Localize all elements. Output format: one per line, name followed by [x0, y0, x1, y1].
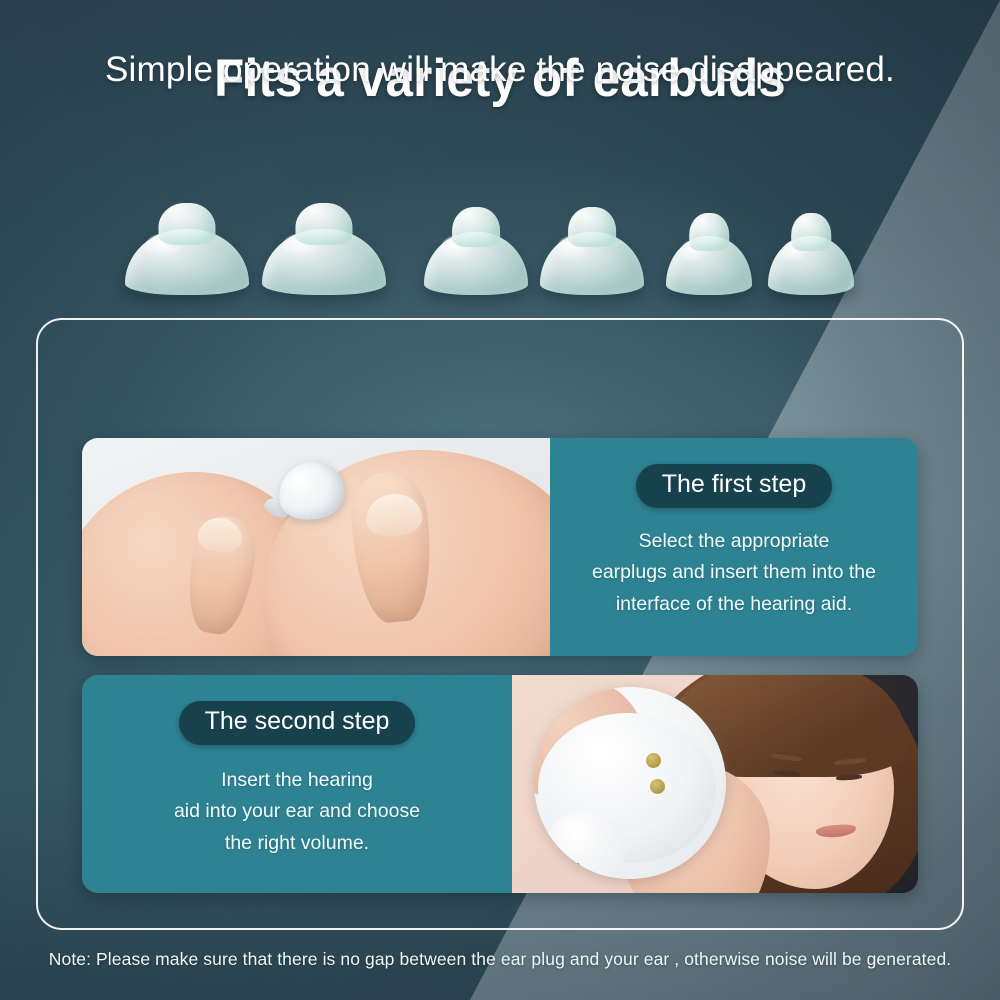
step-badge-first: The first step	[636, 464, 833, 508]
earbud-tip	[666, 213, 752, 295]
poster-root: Fits a variety of earbuds Simple oper	[0, 0, 1000, 1000]
earbud-tips-row	[0, 185, 1000, 295]
step-description-second: Insert the hearing aid into your ear and…	[174, 765, 420, 860]
earbud-tip	[125, 203, 249, 295]
step-line: aid into your ear and choose	[174, 796, 420, 828]
earbud-tip-stem	[295, 203, 352, 245]
step-description-first: Select the appropriate earplugs and inse…	[592, 526, 876, 621]
step-photo-hands	[82, 438, 550, 656]
closeup-contact-dot	[646, 753, 661, 768]
step-line: interface of the hearing aid.	[592, 589, 876, 621]
step-text-first: The first step Select the appropriate ea…	[550, 438, 918, 656]
earbud-tip-stem	[452, 207, 500, 247]
step-line: earplugs and insert them into the	[592, 557, 876, 589]
step-photo-woman	[512, 675, 918, 893]
step-text-second: The second step Insert the hearing aid i…	[82, 675, 512, 893]
earbud-tip-stem	[568, 207, 616, 247]
earbud-tip	[262, 203, 386, 295]
step-line: Insert the hearing	[174, 765, 420, 797]
footer-note: Note: Please make sure that there is no …	[0, 949, 1000, 970]
step-badge-second: The second step	[179, 701, 416, 745]
step-line: the right volume.	[174, 828, 420, 860]
closeup-device-lid	[544, 811, 626, 879]
hearing-aid-closeup-inset	[534, 687, 726, 879]
earbud-tip-stem	[791, 213, 831, 251]
closeup-mic-hole	[574, 863, 580, 869]
earbud-tip	[540, 207, 644, 295]
earbud-tip	[424, 207, 528, 295]
earbud-tip	[768, 213, 854, 295]
step-row-first: The first step Select the appropriate ea…	[82, 438, 918, 656]
closeup-contact-dot	[650, 779, 665, 794]
photo-hands-holding-hearing-aid	[82, 438, 550, 656]
earbud-tip-stem	[158, 203, 215, 245]
earbud-tip-stem	[689, 213, 729, 251]
card-heading: Simple operation will make the noise dis…	[0, 50, 1000, 90]
step-row-second: The second step Insert the hearing aid i…	[82, 675, 918, 893]
photo-woman-wearing-hearing-aid	[512, 675, 918, 893]
step-line: Select the appropriate	[592, 526, 876, 558]
